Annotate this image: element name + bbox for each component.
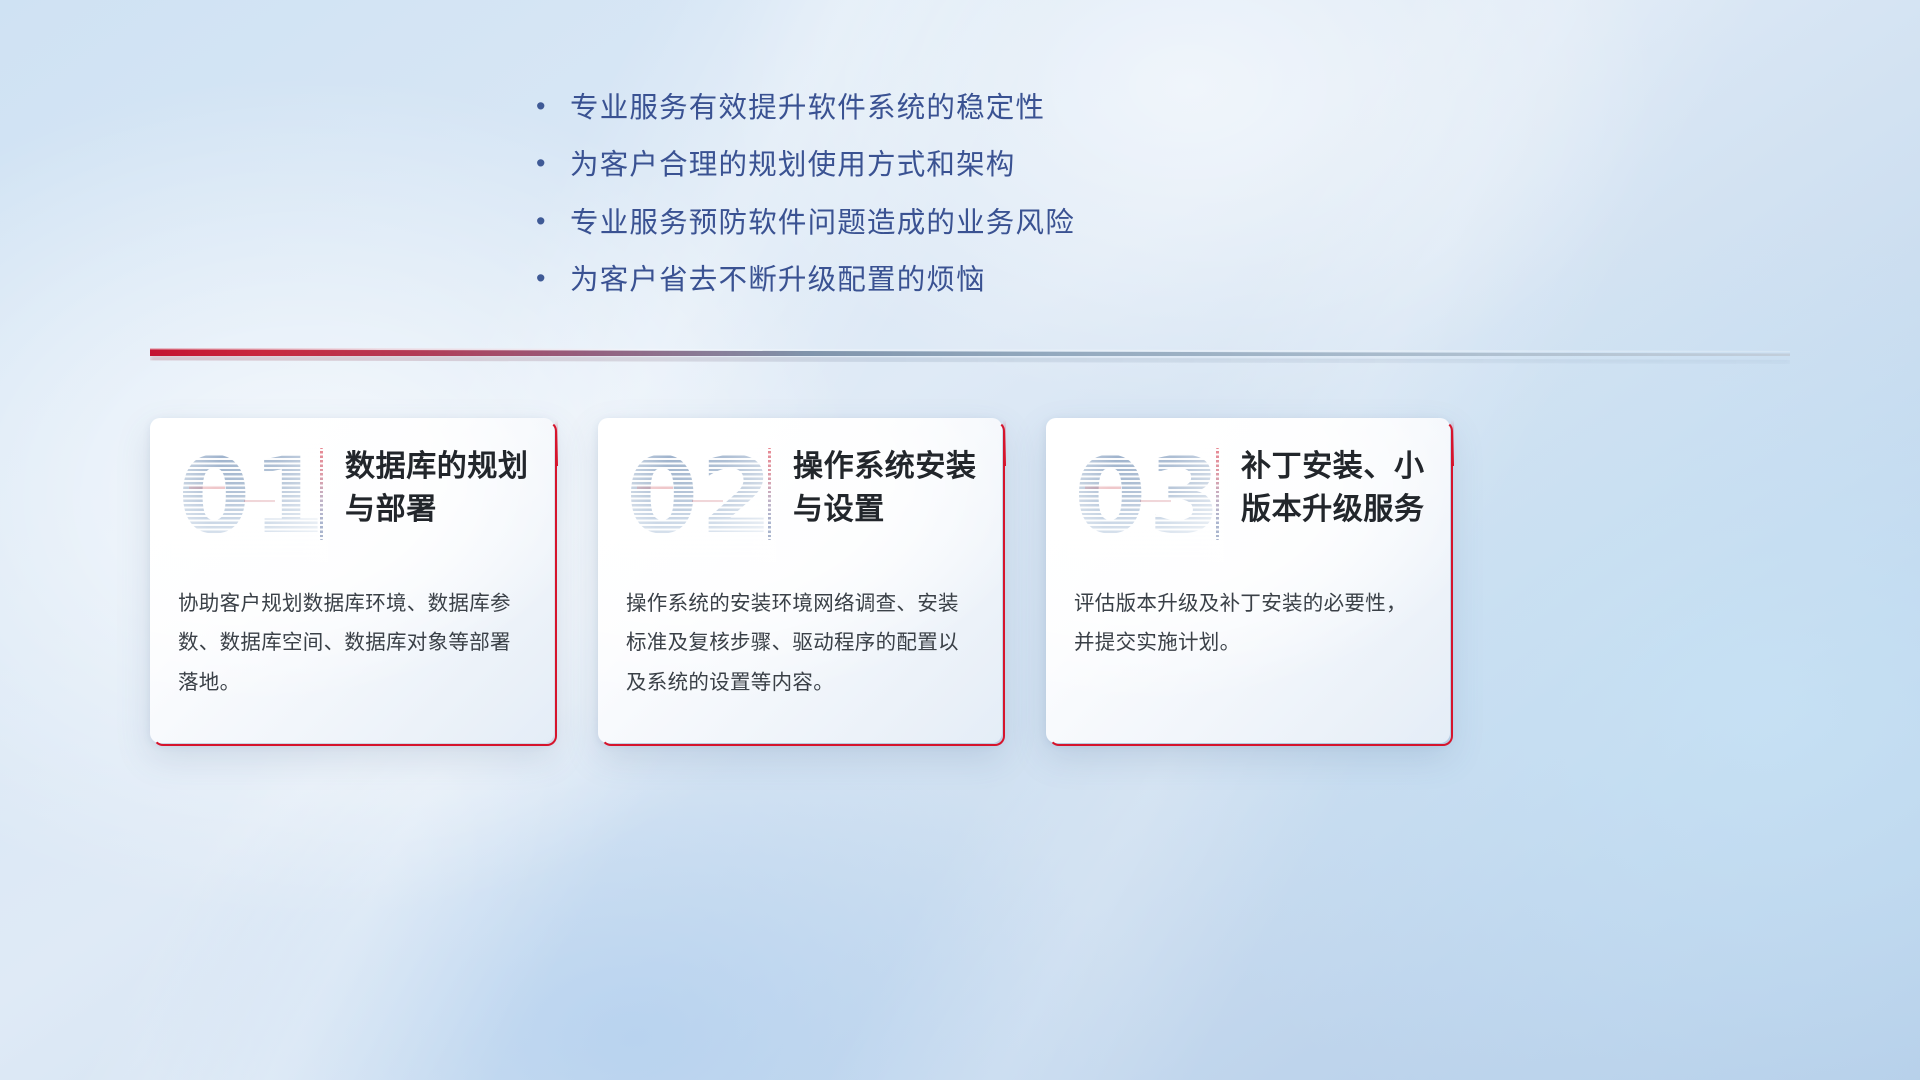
- divider-shadow: [150, 355, 1790, 364]
- list-item: • 专业服务预防软件问题造成的业务风险: [536, 203, 1536, 243]
- service-card-row: 01 数据库的规划与部署 协助客户规划数据库环境、数据库参数、数据库空间、数据库…: [150, 418, 1770, 748]
- card-header: 01 数据库的规划与部署: [150, 418, 554, 570]
- card-title: 补丁安装、小版本升级服务: [1241, 446, 1430, 531]
- card-body-text: 操作系统的安装环境网络调查、安装标准及复核步骤、驱动程序的配置以及系统的设置等内…: [598, 584, 1002, 702]
- bullet-text: 为客户省去不断升级配置的烦恼: [570, 260, 986, 300]
- bullet-text: 专业服务预防软件问题造成的业务风险: [570, 203, 1075, 243]
- card-number-text: 01: [178, 444, 327, 548]
- section-divider: [150, 344, 1790, 366]
- card-body-text: 评估版本升级及补丁安装的必要性，并提交实施计划。: [1046, 584, 1450, 663]
- card-number-text: 02: [626, 444, 775, 548]
- card-title: 操作系统安装与设置: [793, 446, 982, 531]
- bullet-dot-icon: •: [536, 93, 570, 120]
- list-item: • 为客户合理的规划使用方式和架构: [536, 145, 1536, 185]
- bullet-dot-icon: •: [536, 150, 570, 177]
- list-item: • 专业服务有效提升软件系统的稳定性: [536, 88, 1536, 128]
- card-number-watermark: 02: [626, 444, 764, 552]
- card-number-watermark: 01: [178, 444, 316, 552]
- service-card-01[interactable]: 01 数据库的规划与部署 协助客户规划数据库环境、数据库参数、数据库空间、数据库…: [150, 418, 554, 743]
- card-title: 数据库的规划与部署: [345, 446, 534, 531]
- card-body-text: 协助客户规划数据库环境、数据库参数、数据库空间、数据库对象等部署落地。: [150, 584, 554, 702]
- card-number-text: 03: [1074, 444, 1223, 548]
- card-header: 02 操作系统安装与设置: [598, 418, 1002, 570]
- slide-canvas: • 专业服务有效提升软件系统的稳定性 • 为客户合理的规划使用方式和架构 • 专…: [0, 0, 1920, 1080]
- benefits-bullet-list: • 专业服务有效提升软件系统的稳定性 • 为客户合理的规划使用方式和架构 • 专…: [536, 88, 1536, 318]
- card-number-watermark: 03: [1074, 444, 1212, 552]
- service-card-02[interactable]: 02 操作系统安装与设置 操作系统的安装环境网络调查、安装标准及复核步骤、驱动程…: [598, 418, 1002, 743]
- service-card-03[interactable]: 03 补丁安装、小版本升级服务 评估版本升级及补丁安装的必要性，并提交实施计划。: [1046, 418, 1450, 743]
- list-item: • 为客户省去不断升级配置的烦恼: [536, 260, 1536, 300]
- bullet-dot-icon: •: [536, 265, 570, 292]
- bullet-text: 专业服务有效提升软件系统的稳定性: [570, 88, 1045, 128]
- bullet-text: 为客户合理的规划使用方式和架构: [570, 145, 1016, 185]
- card-header: 03 补丁安装、小版本升级服务: [1046, 418, 1450, 570]
- bullet-dot-icon: •: [536, 208, 570, 235]
